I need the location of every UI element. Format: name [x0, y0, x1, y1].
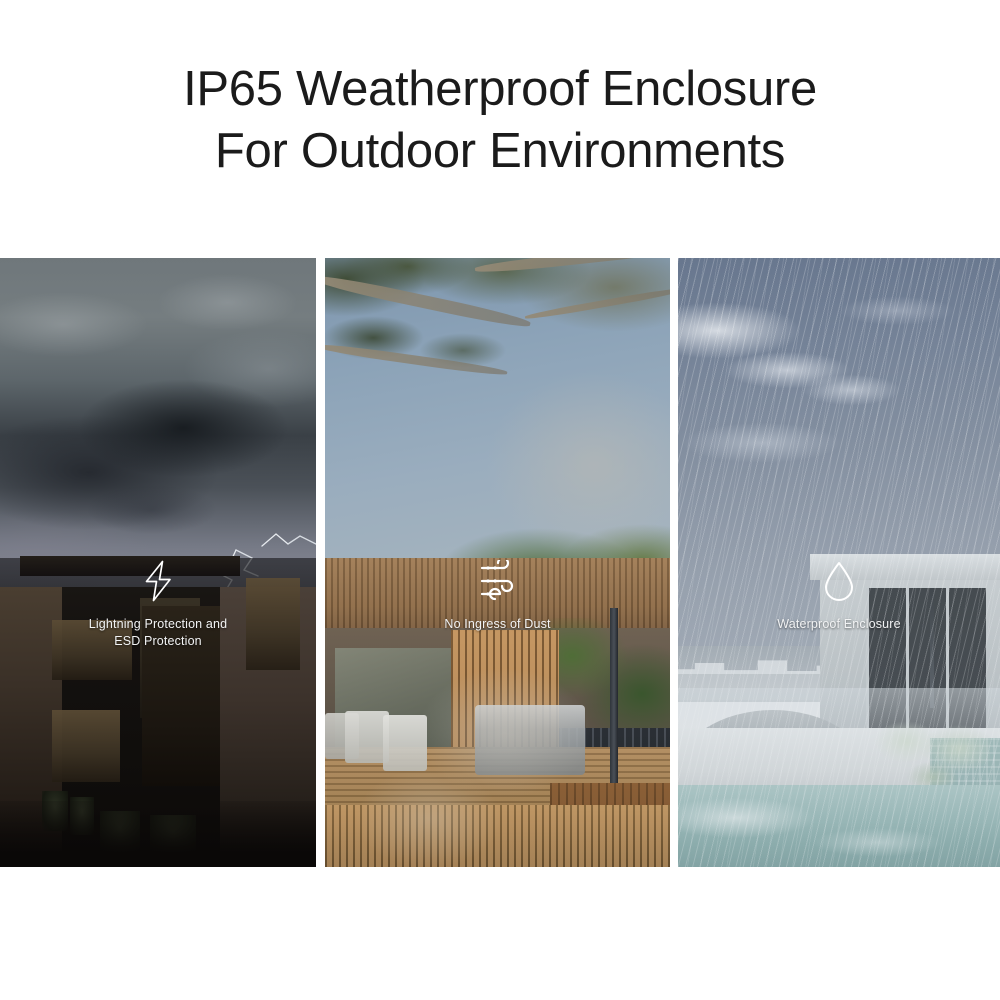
feature-panel-dust: No Ingress of Dust — [325, 258, 670, 867]
storm-building-photo — [0, 258, 316, 867]
page-title: IP65 Weatherproof Enclosure For Outdoor … — [0, 58, 1000, 182]
building-window — [246, 578, 300, 670]
panel-divider — [670, 258, 678, 867]
panel-divider — [316, 258, 325, 867]
dust-haze-layer — [325, 258, 670, 867]
marketing-banner: IP65 Weatherproof Enclosure For Outdoor … — [0, 0, 1000, 1000]
building-window — [52, 710, 120, 782]
street-ground — [0, 801, 316, 867]
building-window — [52, 620, 132, 680]
building-entrance-door — [142, 606, 220, 786]
feature-panel-waterproof: Waterproof Enclosure — [678, 258, 1000, 867]
deck-patio-photo — [325, 258, 670, 867]
feature-panel-lightning: Lightning Protection and ESD Protection — [0, 258, 316, 867]
rooftop-pool-rain-photo — [678, 258, 1000, 867]
page-title-line-2: For Outdoor Environments — [0, 120, 1000, 182]
rain-haze-layer — [678, 258, 1000, 867]
page-title-line-1: IP65 Weatherproof Enclosure — [0, 58, 1000, 120]
feature-panel-strip: Lightning Protection and ESD Protection — [0, 258, 1000, 867]
building-awning — [20, 556, 240, 576]
